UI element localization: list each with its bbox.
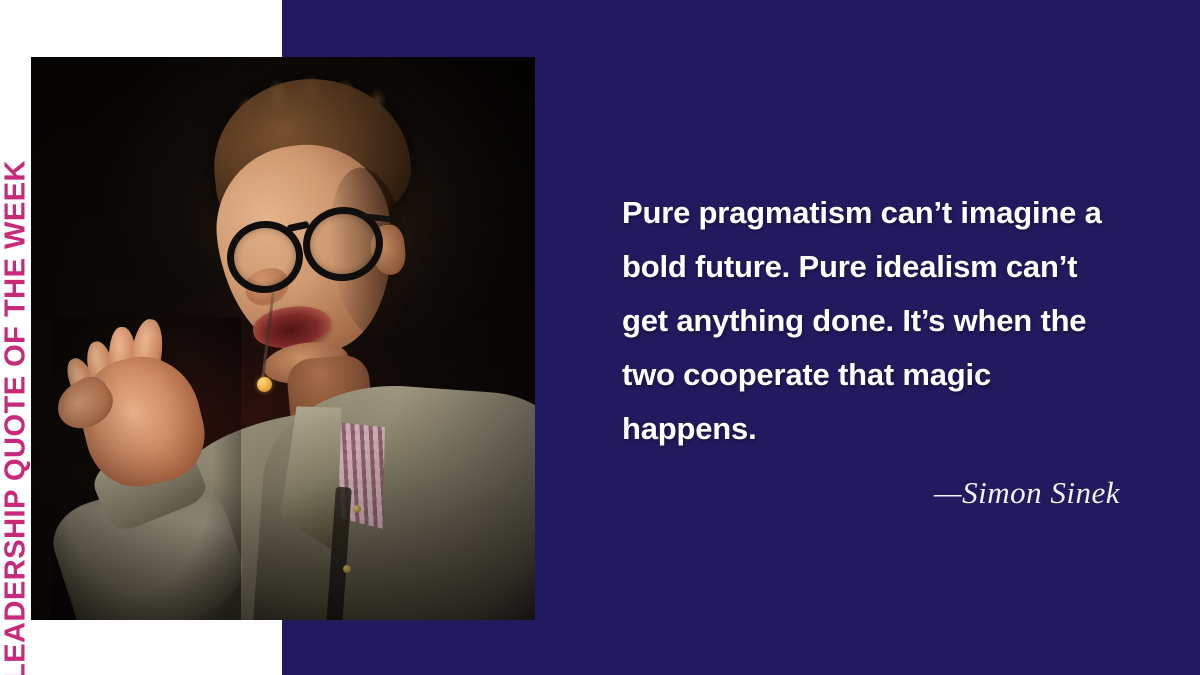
quote-slide: LEADERSHIP QUOTE OF THE WEEK Pure pragma… [0, 0, 1200, 675]
ribbon-label: LEADERSHIP QUOTE OF THE WEEK [1, 160, 30, 675]
jacket-button-upper [353, 505, 361, 513]
headset-mic-bud [257, 377, 272, 392]
photo-backdrop [31, 57, 535, 620]
jacket-button-lower [343, 565, 351, 573]
quote-block: Pure pragmatism can’t imagine a bold fut… [622, 186, 1122, 510]
quote-attribution: —Simon Sinek [622, 476, 1122, 510]
vertical-ribbon: LEADERSHIP QUOTE OF THE WEEK [0, 0, 31, 675]
quote-text: Pure pragmatism can’t imagine a bold fut… [622, 186, 1122, 456]
speaker-photo [31, 57, 535, 620]
